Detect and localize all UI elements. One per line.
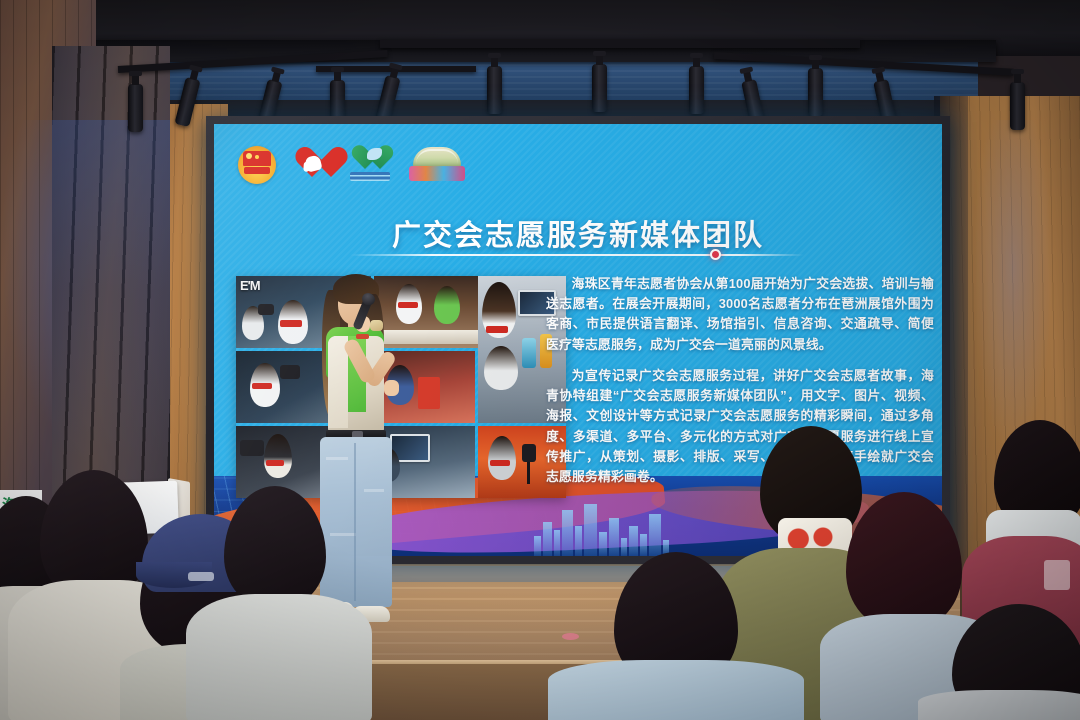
track-spotlight [808,68,823,116]
slide-logo-row [238,146,465,184]
right-wall-glow [974,120,1052,450]
lecture-hall-scene: 广交会志愿服务新媒体团队 E'M [0,0,1080,720]
presenter-hand-right [384,380,399,396]
guangzhou-skyline-graphic [534,498,752,556]
stage-floor-marker [562,633,579,640]
slide-paragraph-1: 海珠区青年志愿者协会从第100届开始为广交会选拔、培训与输送志愿者。在展会开展期… [546,274,934,355]
slide-title: 广交会志愿服务新媒体团队 [214,212,942,254]
track-spotlight [592,64,607,112]
title-underline [350,254,804,256]
slide-body-text: 海珠区青年志愿者协会从第100届开始为广交会选拔、培训与输送志愿者。在展会开展期… [546,274,934,498]
microphone-grip [370,320,383,331]
slide-paragraph-2: 为宣传记录广交会志愿服务过程，讲好广交会志愿者故事，海青协特组建“广交会志愿服务… [546,366,934,487]
slat-panel-glow [52,120,170,460]
guangzhou-fair-script-logo-icon [409,147,465,183]
title-accent-dot [710,249,721,260]
light-rail-upper [380,40,860,48]
track-spotlight [487,66,502,114]
presenter-jeans [320,437,392,607]
track-spotlight [128,84,143,132]
communist-youth-league-emblem-icon [238,146,276,184]
green-heart-volunteer-logo-icon [350,146,390,184]
china-volunteer-heart-hand-logo-icon [295,148,331,182]
track-spotlight [1010,82,1025,130]
collage-watermark: E'M [240,278,260,293]
track-spotlight [689,66,704,114]
presenter-wristband [356,334,369,339]
